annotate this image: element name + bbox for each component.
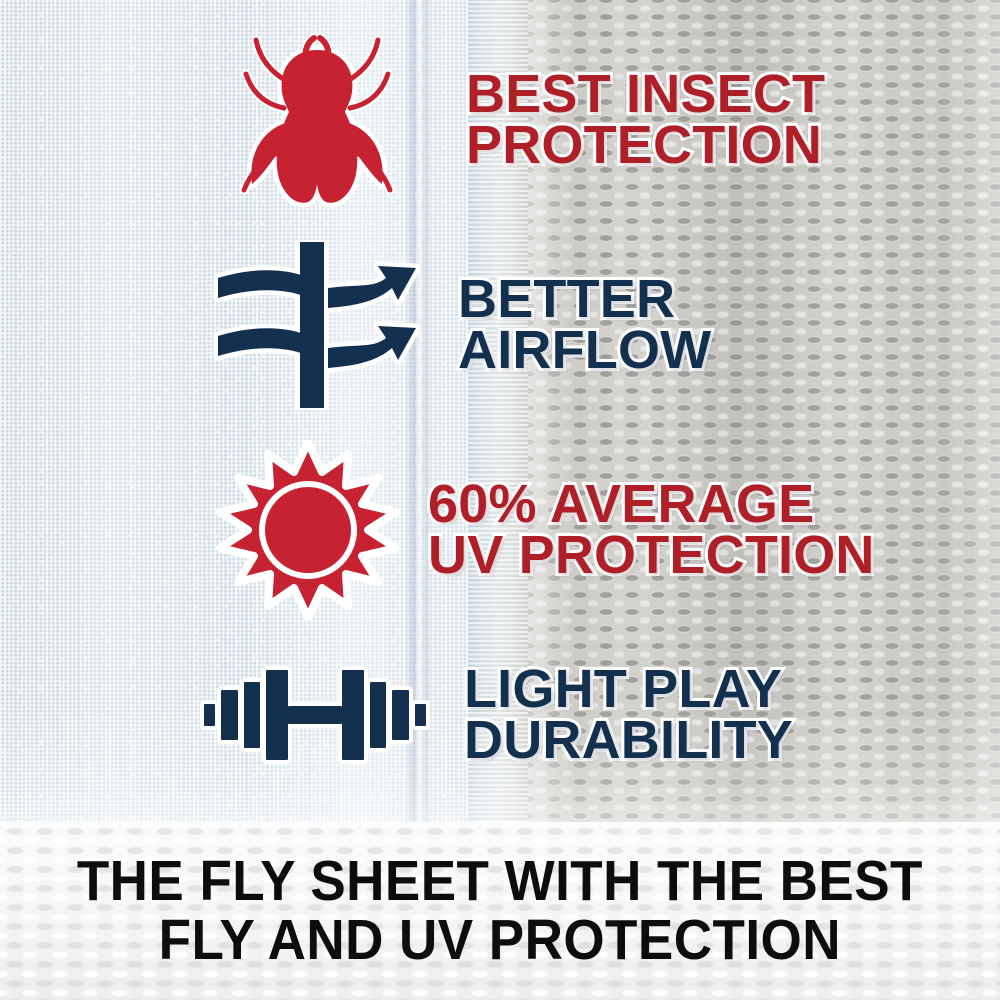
sun-icon <box>212 440 404 620</box>
feature-row-durability: LIGHT PLAY DURABILITY <box>200 662 793 768</box>
infographic-root: BEST INSECT PROTECTION <box>0 0 1000 1000</box>
feature-label-uv: 60% AVERAGE UV PROTECTION <box>428 479 875 582</box>
banner-line-1: THE FLY SHEET WITH THE BEST <box>77 852 923 911</box>
dumbbell-icon <box>200 662 430 768</box>
banner-line-2: FLY AND UV PROTECTION <box>159 911 841 970</box>
feature-label-airflow: BETTER AIRFLOW <box>458 274 711 377</box>
feature-row-airflow: BETTER AIRFLOW <box>200 240 711 410</box>
fly-icon <box>232 26 404 214</box>
bottom-banner: THE FLY SHEET WITH THE BEST FLY AND UV P… <box>0 822 1000 1000</box>
feature-label-durability: LIGHT PLAY DURABILITY <box>464 664 793 767</box>
feature-label-insect: BEST INSECT PROTECTION <box>466 69 825 172</box>
feature-row-insect: BEST INSECT PROTECTION <box>232 26 825 214</box>
airflow-icon <box>200 240 430 410</box>
feature-row-uv: 60% AVERAGE UV PROTECTION <box>212 440 875 620</box>
